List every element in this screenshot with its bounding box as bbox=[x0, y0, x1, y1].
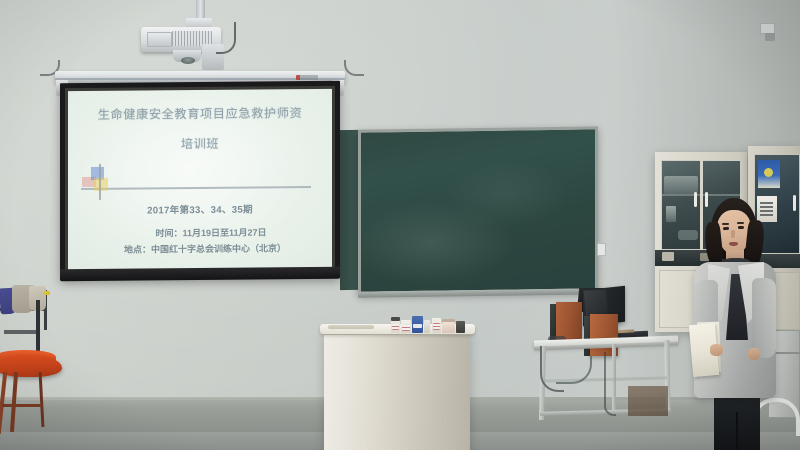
hand-right bbox=[748, 348, 760, 360]
screen-brand-logo bbox=[296, 75, 318, 80]
chalkboard-surface bbox=[361, 129, 595, 291]
blackboard-left-edge bbox=[340, 130, 358, 290]
green-chalkboard bbox=[358, 126, 598, 294]
wall-outlet-shadow bbox=[765, 33, 775, 41]
eye-left bbox=[723, 227, 729, 230]
chair-seat bbox=[0, 355, 62, 377]
wall-socket[interactable] bbox=[597, 243, 606, 256]
supply-box-1-cap bbox=[391, 317, 400, 321]
power-cable-3 bbox=[604, 352, 616, 416]
chair-back-rail bbox=[4, 330, 40, 334]
coat-sleeve-right bbox=[752, 278, 776, 358]
poster-emblem bbox=[764, 168, 773, 177]
slide-decorative-motif bbox=[82, 167, 122, 199]
eyebrow-left bbox=[722, 223, 729, 225]
box-under-table bbox=[628, 386, 668, 416]
hand-left bbox=[710, 344, 723, 356]
motif-square-yellow bbox=[94, 178, 108, 191]
nose bbox=[731, 230, 735, 238]
trouser-leg-seam bbox=[736, 412, 738, 450]
standing-presenter[interactable] bbox=[686, 196, 796, 450]
cabinet-a-band-object-1 bbox=[662, 252, 674, 261]
slide-session-text: 2017年第33、34、35期 bbox=[68, 201, 332, 217]
slide-place-text: 地点：中国红十字总会训练中心（北京） bbox=[68, 241, 332, 256]
slide-title-line1: 生命健康安全教育项目应急救护师资 bbox=[68, 103, 332, 123]
supply-box-2-label bbox=[402, 325, 410, 331]
chair-rung bbox=[2, 404, 42, 407]
projector-side-panel bbox=[147, 32, 172, 47]
lectern-shading bbox=[324, 330, 470, 450]
slide-time-text: 时间：11月19日至11月27日 bbox=[68, 225, 332, 240]
supply-box-blue-label bbox=[413, 324, 422, 328]
projection-screen: 生命健康安全教育项目应急救护师资 培训班 2017年第33、34、35期 时间：… bbox=[60, 81, 340, 279]
presentation-slide: 生命健康安全教育项目应急救护师资 培训班 2017年第33、34、35期 时间：… bbox=[68, 89, 332, 271]
mouth bbox=[729, 242, 738, 246]
classroom-photo: 生命健康安全教育项目应急救护师资 培训班 2017年第33、34、35期 时间：… bbox=[0, 0, 800, 450]
lectern-top-notch bbox=[328, 325, 374, 329]
supply-box-1-label bbox=[392, 324, 399, 330]
cabinet-a-bottle bbox=[666, 206, 676, 222]
projector-lens bbox=[181, 57, 195, 64]
screen-bottom-bar bbox=[60, 267, 340, 281]
cabinet-a-contents-top bbox=[664, 176, 698, 194]
motif-vertical-rule bbox=[99, 164, 101, 200]
slide-title-line2: 培训班 bbox=[68, 133, 332, 153]
eye-right bbox=[738, 226, 744, 229]
supply-box-3-label bbox=[433, 323, 440, 330]
eyebrow-right bbox=[737, 222, 744, 224]
chair-back-post bbox=[36, 300, 40, 358]
bandage-package[interactable] bbox=[442, 322, 455, 333]
cloth-clip bbox=[44, 291, 50, 295]
small-bottle[interactable] bbox=[424, 320, 430, 333]
dark-case[interactable] bbox=[456, 321, 465, 333]
